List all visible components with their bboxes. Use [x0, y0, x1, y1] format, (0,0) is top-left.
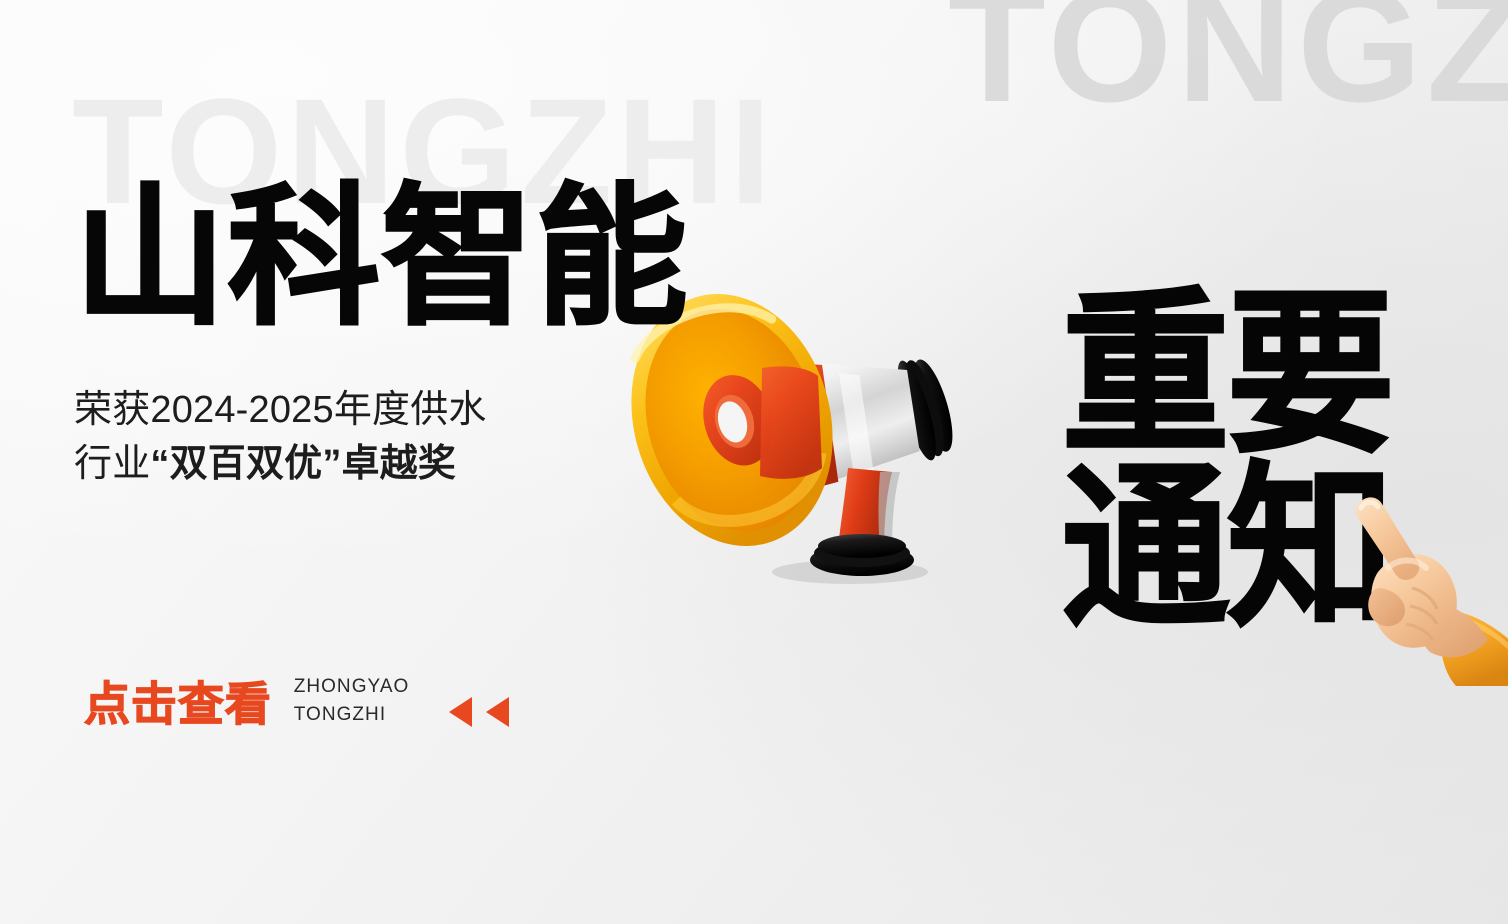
- award-subtitle-line1: 荣获2024-2025年度供水: [74, 384, 594, 438]
- left-content-block: 山科智能 荣获2024-2025年度供水 行业“双百双优”卓越奖: [74, 176, 774, 492]
- award-subtitle-industry: 行业: [74, 443, 150, 485]
- view-details-button[interactable]: 点击查看: [84, 668, 272, 734]
- pointing-hand-icon: [1336, 486, 1508, 686]
- announcement-banner: TONGZHI TONGZHI: [0, 0, 1508, 924]
- cta-row[interactable]: 点击查看 ZHONGYAO TONGZHI: [84, 668, 509, 734]
- cta-pinyin: ZHONGYAO TONGZHI: [294, 673, 410, 728]
- triangle-left-icon[interactable]: [449, 697, 472, 727]
- award-subtitle-line2: 行业“双百双优”卓越奖: [74, 438, 594, 492]
- cta-arrows[interactable]: [449, 675, 509, 727]
- cta-pinyin-line2: TONGZHI: [294, 701, 410, 729]
- page-title: 山科智能: [74, 176, 774, 340]
- award-subtitle-honor: “双百双优”卓越奖: [150, 443, 456, 485]
- triangle-left-icon[interactable]: [486, 697, 509, 727]
- cta-pinyin-line1: ZHONGYAO: [294, 673, 410, 701]
- award-subtitle: 荣获2024-2025年度供水 行业“双百双优”卓越奖: [74, 384, 594, 492]
- background-watermark-top: TONGZHI: [948, 0, 1508, 126]
- notice-headline-line1: 重要: [1062, 288, 1392, 462]
